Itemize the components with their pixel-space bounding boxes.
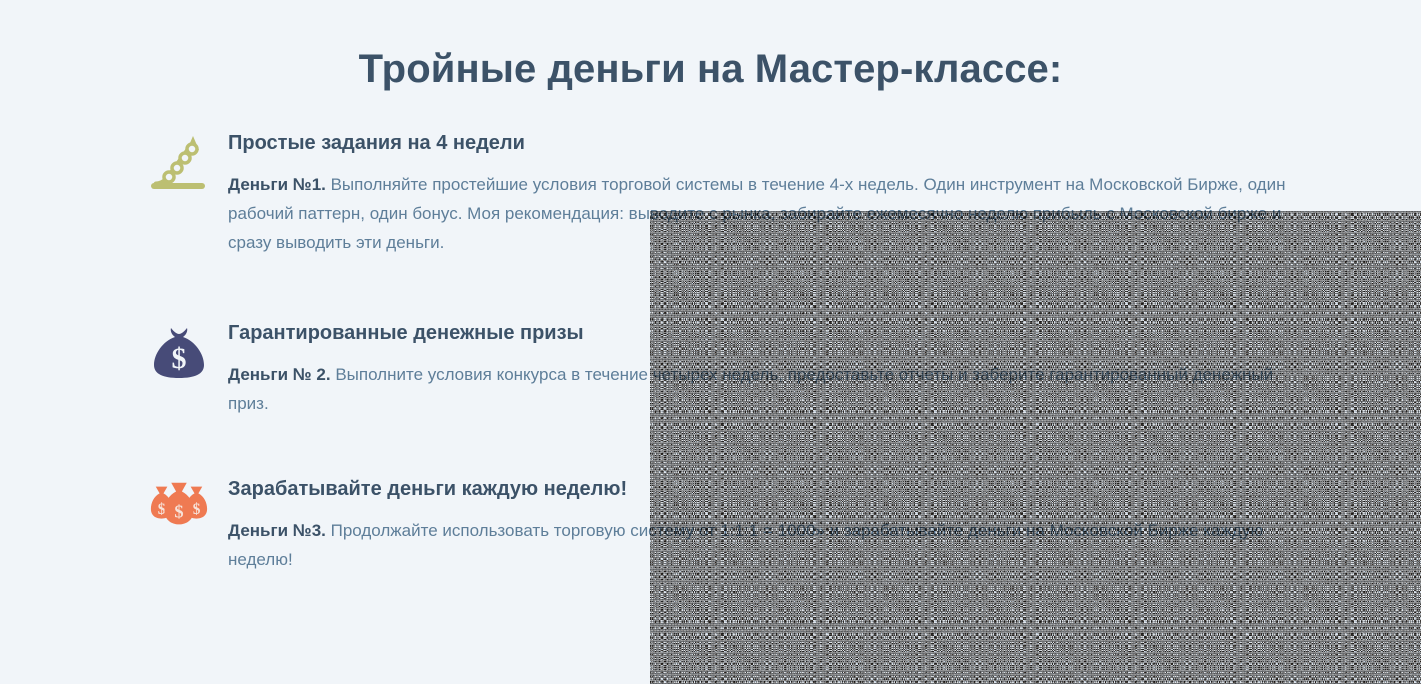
feature-body: Гарантированные денежные призы Деньги № … <box>228 320 1288 418</box>
feature-description: Выполняйте простейшие условия торговой с… <box>228 175 1285 252</box>
svg-text:$: $ <box>158 501 166 518</box>
feature-label: Деньги №3. <box>228 521 326 540</box>
svg-text:$: $ <box>193 501 201 518</box>
growth-arrow-icon <box>148 134 210 196</box>
svg-text:$: $ <box>174 502 183 522</box>
list-item: $ $ $ Зарабатывайте деньги каждую неделю… <box>0 476 1421 574</box>
feature-text: Деньги № 2. Выполните условия конкурса в… <box>228 360 1288 418</box>
feature-description: Продолжайте использовать торговую систем… <box>228 521 1263 569</box>
feature-description: Выполните условия конкурса в течение чет… <box>228 365 1273 413</box>
feature-list: Простые задания на 4 недели Деньги №1. В… <box>0 94 1421 575</box>
feature-text: Деньги №3. Продолжайте использовать торг… <box>228 516 1288 574</box>
three-money-bags-icon: $ $ $ <box>148 480 210 542</box>
feature-text: Деньги №1. Выполняйте простейшие условия… <box>228 170 1288 258</box>
svg-text:$: $ <box>172 342 187 375</box>
feature-body: Простые задания на 4 недели Деньги №1. В… <box>228 130 1288 258</box>
page-title: Тройные деньги на Мастер-классе: <box>0 0 1421 94</box>
feature-label: Деньги № 2. <box>228 365 331 384</box>
feature-label: Деньги №1. <box>228 175 326 194</box>
money-bag-icon: $ <box>148 324 210 386</box>
feature-body: Зарабатывайте деньги каждую неделю! День… <box>228 476 1288 574</box>
page-root: Тройные деньги на Мастер-классе: Простые… <box>0 0 1421 684</box>
feature-title: Зарабатывайте деньги каждую неделю! <box>228 476 1288 502</box>
list-item: Простые задания на 4 недели Деньги №1. В… <box>0 130 1421 258</box>
list-item: $ Гарантированные денежные призы Деньги … <box>0 320 1421 418</box>
feature-title: Простые задания на 4 недели <box>228 130 1288 156</box>
feature-title: Гарантированные денежные призы <box>228 320 1288 346</box>
